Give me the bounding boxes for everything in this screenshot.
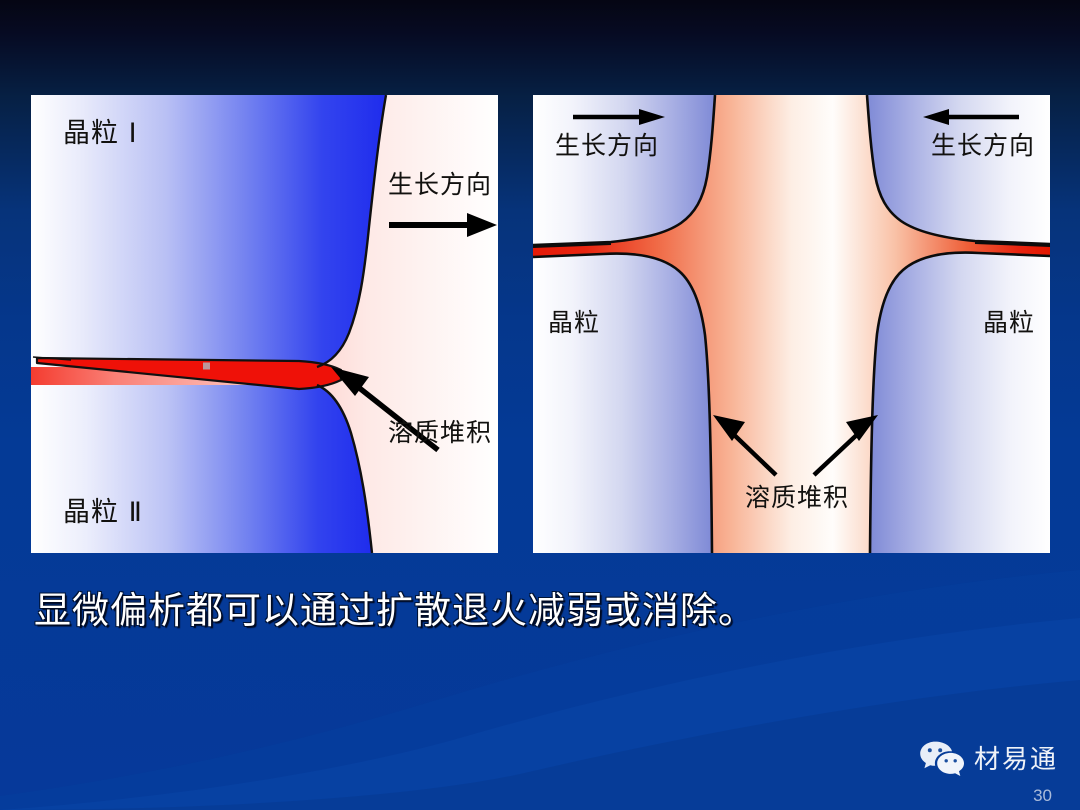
right-diagram-panel: 生长方向 生长方向 晶粒 晶粒 溶质堆积	[533, 95, 1050, 553]
label-grain-right: 晶粒	[983, 310, 1035, 335]
label-growth-direction-left: 生长方向	[388, 172, 492, 197]
label-solute-accumulation-left: 溶质堆积	[388, 420, 492, 445]
label-grain-one: 晶粒 Ⅰ	[63, 120, 138, 147]
watermark-brand: 材易通	[974, 739, 1058, 776]
label-solute-accumulation-right: 溶质堆积	[745, 485, 849, 510]
label-growth-direction-right-panel-left: 生长方向	[555, 133, 659, 158]
left-diagram-svg	[31, 95, 498, 553]
slide-canvas: 晶粒 Ⅰ 生长方向 溶质堆积 晶粒 Ⅱ	[0, 0, 1080, 810]
watermark: 材易通	[919, 739, 1058, 776]
slide-caption: 显微偏析都可以通过扩散退火减弱或消除。	[34, 590, 1044, 633]
wechat-icon	[919, 740, 965, 776]
label-growth-direction-right-panel-right: 生长方向	[931, 133, 1035, 158]
label-grain-left: 晶粒	[548, 310, 600, 335]
page-number: 30	[1033, 786, 1052, 806]
left-diagram-panel: 晶粒 Ⅰ 生长方向 溶质堆积 晶粒 Ⅱ	[31, 95, 498, 553]
label-grain-two: 晶粒 Ⅱ	[63, 499, 143, 526]
